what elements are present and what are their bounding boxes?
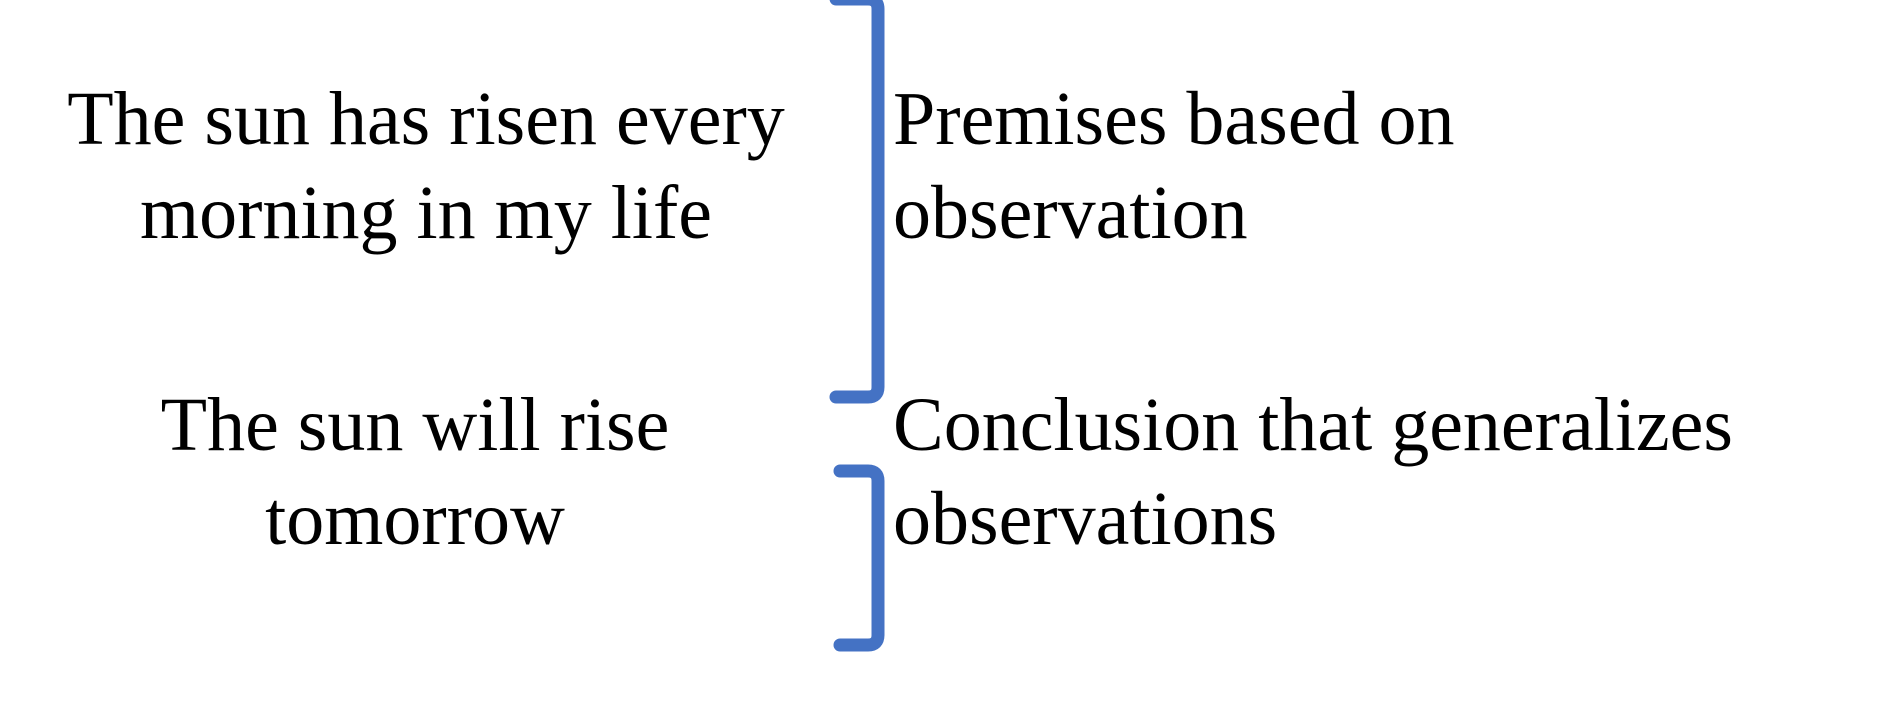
conclusion-statement-text: The sun will rise tomorrow [20,378,810,566]
conclusion-bracket-stroke [840,471,878,645]
diagram-canvas: The sun has risen every morning in my li… [0,0,1878,704]
premise-statement-text: The sun has risen every morning in my li… [20,72,832,260]
premise-bracket-stroke [836,0,878,397]
premise-label-text: Premises based on observation [893,72,1853,260]
conclusion-right-bracket-icon [826,462,888,654]
conclusion-label-text: Conclusion that generalizes observations [893,378,1873,566]
premise-right-bracket-icon [826,0,888,404]
